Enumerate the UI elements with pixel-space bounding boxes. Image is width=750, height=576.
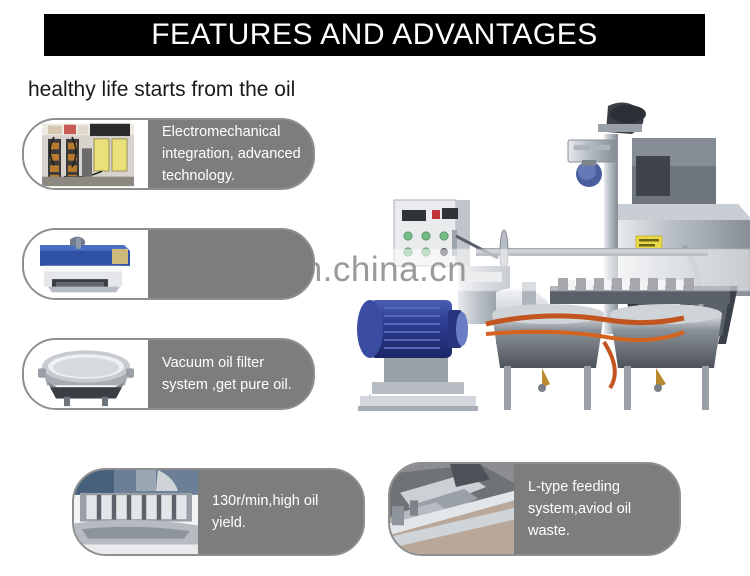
press-screw-illustration [74,470,198,554]
feature-card-speed-yield[interactable]: 130r/min,high oil yield. [72,468,365,556]
vacuum-filter-illustration [24,340,148,408]
features-banner: FEATURES AND ADVANTAGES [44,14,705,56]
gearbox-illustration [24,230,148,298]
oil-press-machine-photo [336,96,750,464]
l-type-feeder-photo [390,464,514,554]
vacuum-oil-filter-photo [24,340,148,408]
control-cabinet-illustration [24,120,148,188]
feature-card-gearbox[interactable] [22,228,315,300]
feature-text-electromechanical: Electromechanical integration, advanced … [148,120,313,188]
feature-text-l-type-feeding: L-type feeding system,aviod oil waste. [514,464,679,554]
feature-text-gearbox [148,230,313,298]
blue-gearbox-photo [24,230,148,298]
feature-card-vacuum-filter[interactable]: Vacuum oil filter system ,get pure oil. [22,338,315,410]
machine-illustration [336,96,750,464]
l-type-feeder-illustration [390,464,514,554]
feature-card-electromechanical[interactable]: Electromechanical integration, advanced … [22,118,315,190]
banner-title: FEATURES AND ADVANTAGES [151,18,598,52]
feature-text-speed-yield: 130r/min,high oil yield. [198,470,363,554]
poster-canvas: en.china.cn FEATURES AND ADVANTAGES heal… [0,0,750,576]
feature-card-l-type-feeding[interactable]: L-type feeding system,aviod oil waste. [388,462,681,556]
feature-text-vacuum-filter: Vacuum oil filter system ,get pure oil. [148,340,313,408]
press-screw-shaft-photo [74,470,198,554]
page-subtitle: healthy life starts from the oil [28,78,295,102]
control-cabinet-wiring-photo [24,120,148,188]
